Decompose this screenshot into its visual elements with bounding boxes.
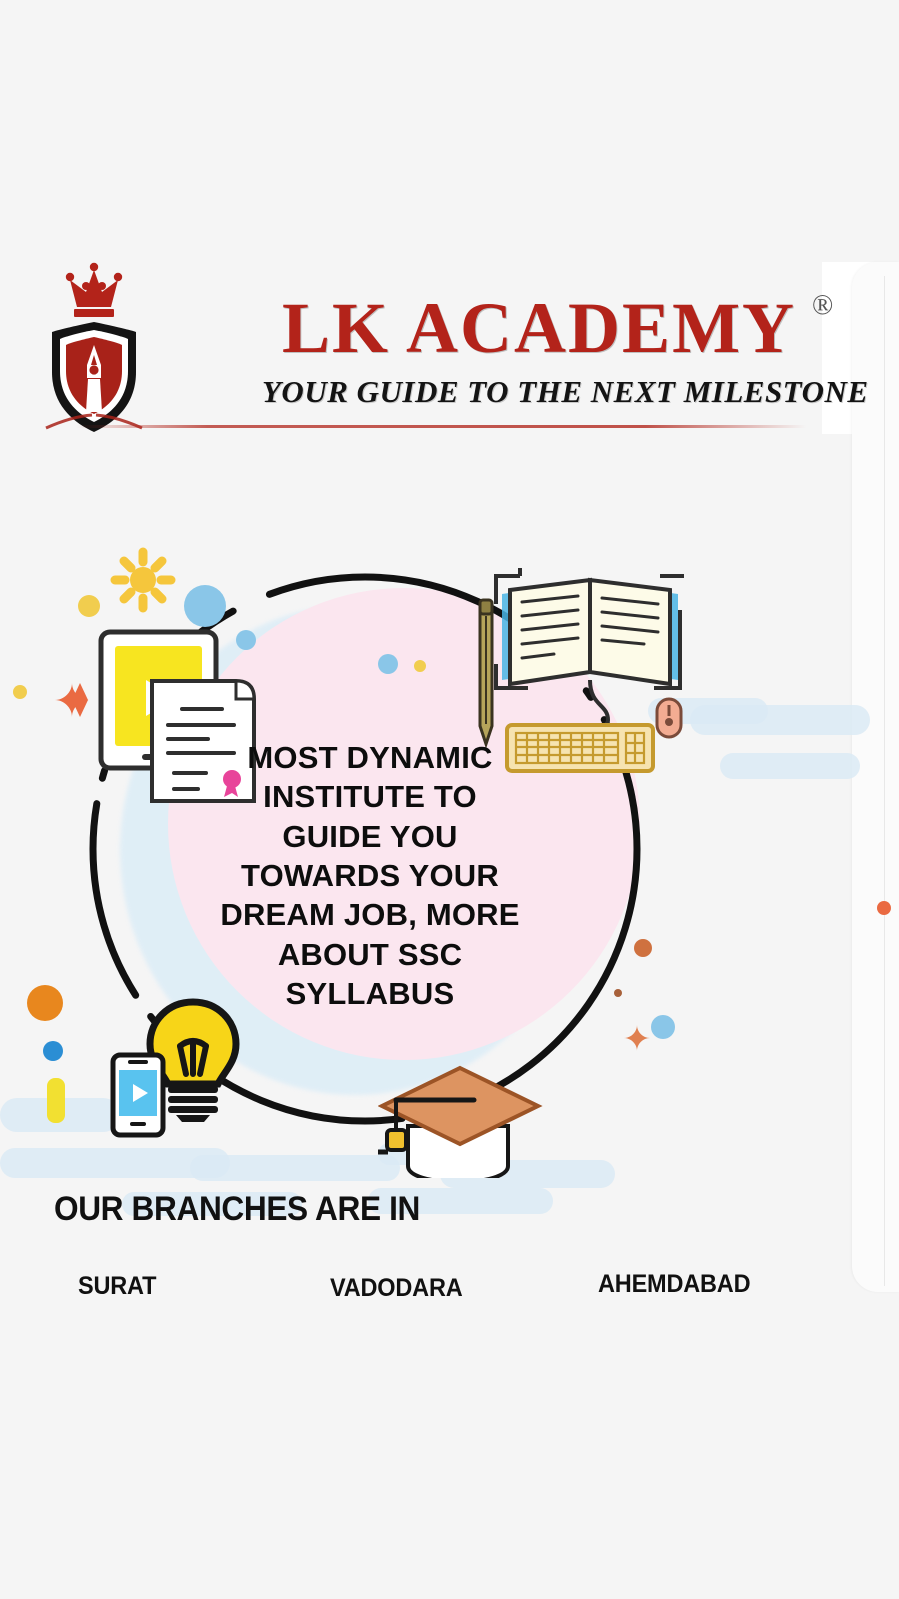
- poster-canvas: LK ACADEMY ® YOUR GUIDE TO THE NEXT MILE…: [0, 0, 899, 1599]
- headline-line: GUIDE YOU: [200, 817, 540, 856]
- registered-trademark-icon: ®: [812, 290, 833, 322]
- shield-crown-pen-logo: [44, 252, 178, 437]
- blue-dot: [651, 1015, 675, 1039]
- brand-name: LK ACADEMY: [234, 262, 838, 364]
- headline-line: SYLLABUS: [200, 974, 540, 1013]
- orange-sparkle-icon: [624, 1025, 650, 1051]
- branch-city-vadodara: VADODARA: [330, 1274, 463, 1303]
- blue-dot: [378, 654, 398, 674]
- headline-line: ABOUT SSC: [200, 935, 540, 974]
- brand-wordmark: LK ACADEMY ® YOUR GUIDE TO THE NEXT MILE…: [234, 262, 838, 432]
- yellow-bar: [47, 1078, 65, 1123]
- brand-logo: LK ACADEMY ® YOUR GUIDE TO THE NEXT MILE…: [36, 250, 836, 440]
- headline-text: MOST DYNAMIC INSTITUTE TO GUIDE YOU TOWA…: [200, 738, 540, 1014]
- yellow-sun-icon: [115, 552, 171, 608]
- logo-underline-rule: [76, 425, 806, 428]
- headline-line: DREAM JOB, MORE: [200, 895, 540, 934]
- blue-dot: [236, 630, 256, 650]
- mouse-icon: [653, 696, 685, 740]
- headline-line: MOST DYNAMIC: [200, 738, 540, 777]
- orange-dot: [614, 989, 622, 997]
- yellow-dot: [13, 685, 27, 699]
- headline-line: INSTITUTE TO: [200, 777, 540, 816]
- branches-heading: OUR BRANCHES ARE IN: [54, 1190, 420, 1229]
- orange-dot: [634, 939, 652, 957]
- orange-dot: [27, 985, 63, 1021]
- branch-city-surat: SURAT: [78, 1272, 156, 1301]
- blue-dot: [184, 585, 226, 627]
- brand-tagline: YOUR GUIDE TO THE NEXT MILESTONE: [234, 364, 838, 410]
- smartphone-video-icon: [110, 1052, 166, 1138]
- headline-line: TOWARDS YOUR: [200, 856, 540, 895]
- open-book-monitor-icon: [494, 568, 684, 698]
- branch-city-ahemdabad: AHEMDABAD: [598, 1270, 750, 1299]
- blue-dot: [43, 1041, 63, 1061]
- graduation-cap-icon: [378, 1048, 548, 1178]
- orange-dot: [877, 901, 891, 915]
- yellow-dot: [78, 595, 100, 617]
- yellow-dot: [414, 660, 426, 672]
